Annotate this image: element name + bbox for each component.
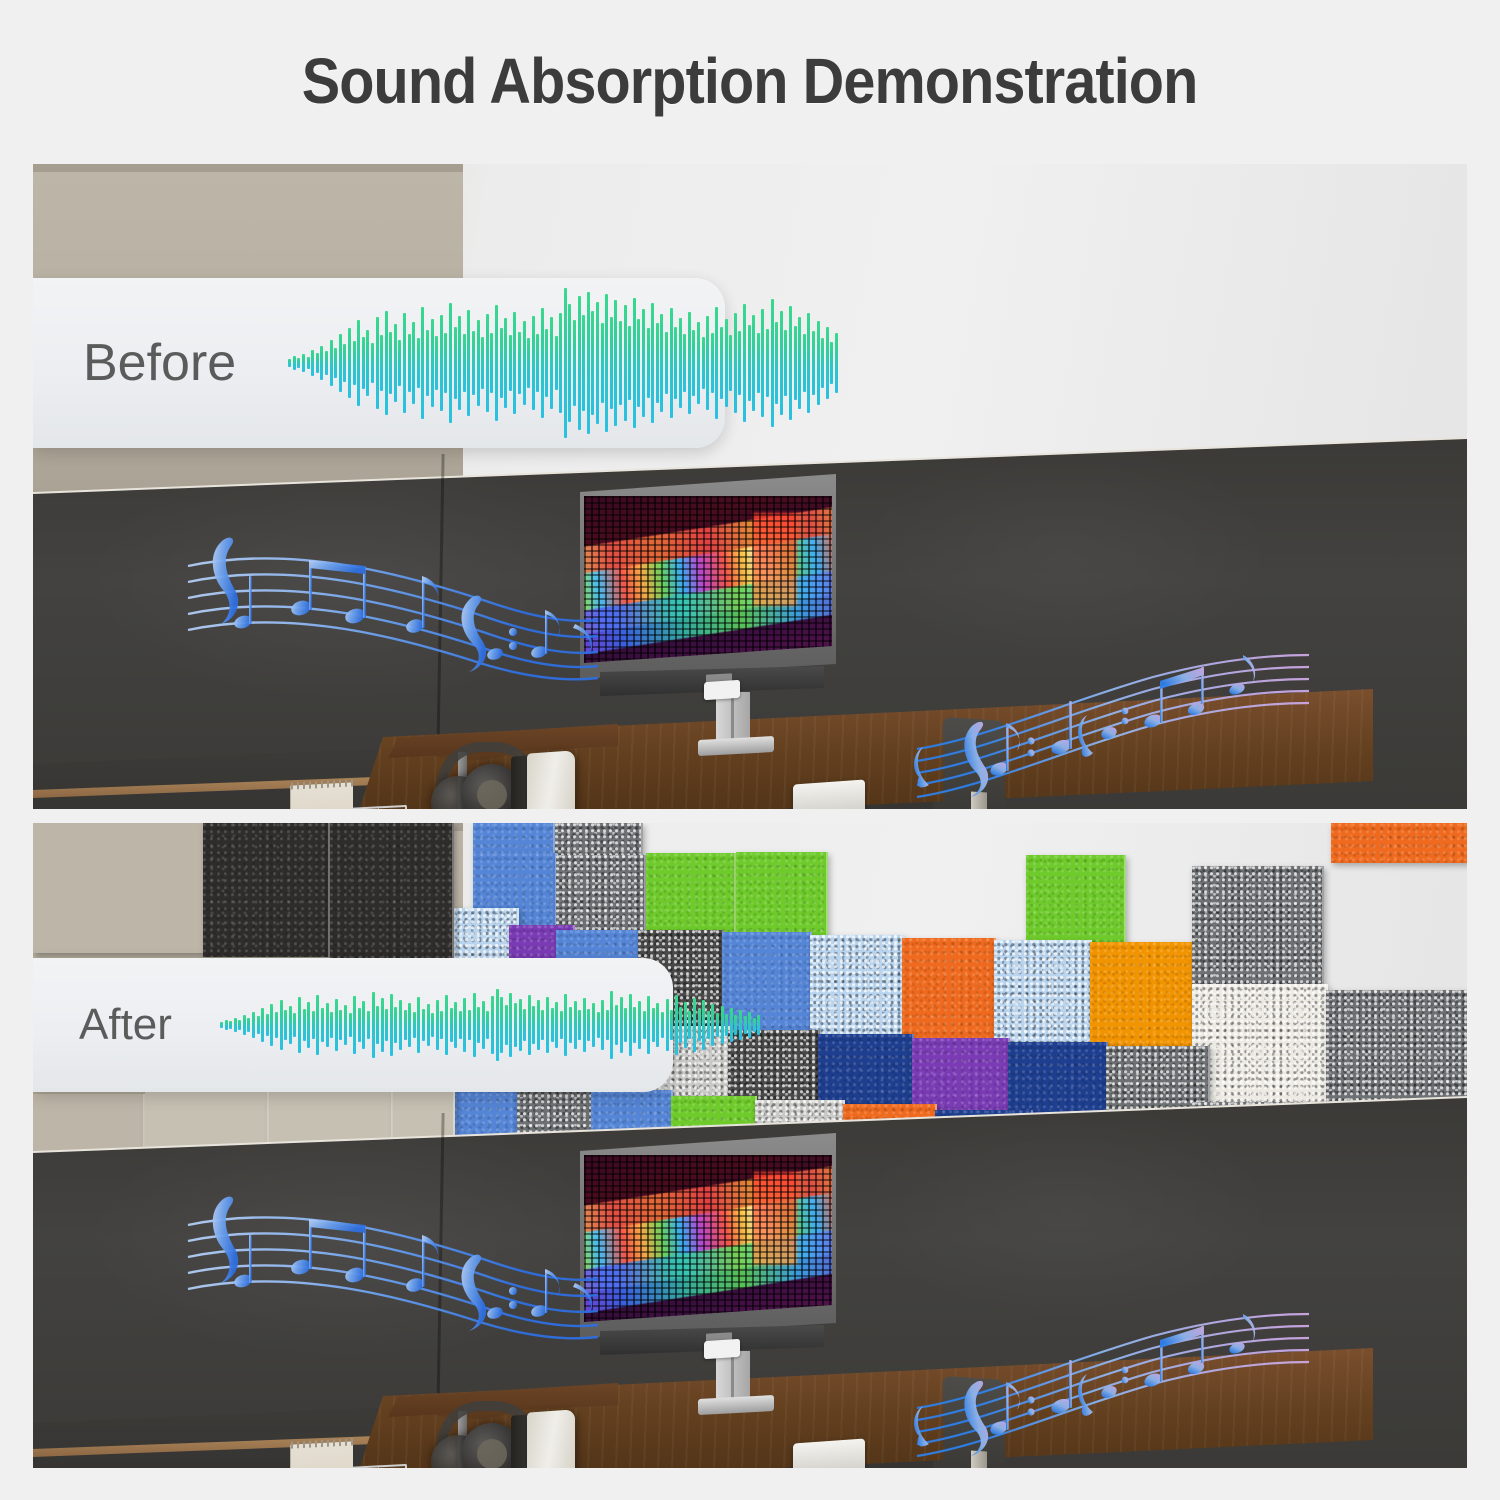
waveform-bar	[325, 351, 328, 375]
waveform-bar	[330, 1012, 333, 1038]
waveform-bar	[399, 1000, 402, 1050]
waveform-bar	[513, 312, 516, 414]
waveform-bar	[440, 315, 443, 411]
waveform-bar	[587, 292, 590, 434]
waveform-bar	[403, 313, 406, 413]
waveform-bar	[280, 1000, 283, 1050]
waveform-bar	[431, 319, 434, 407]
waveform-bar	[826, 327, 829, 399]
waveform-bar	[303, 1009, 306, 1041]
panel-texture	[1331, 823, 1467, 863]
waveform-bar	[257, 1016, 260, 1034]
waveform-bar	[536, 334, 539, 392]
waveform-bar	[366, 330, 369, 396]
waveform-bar	[761, 309, 764, 417]
waveform-bar	[775, 322, 778, 404]
monitor-power-button	[704, 680, 740, 701]
waveform-bar	[702, 1000, 705, 1050]
waveform-bar	[528, 995, 531, 1055]
waveform-bar	[376, 317, 379, 409]
waveform-bar	[445, 995, 448, 1055]
after-room-scene	[33, 823, 1467, 1468]
waveform-bar	[610, 991, 613, 1059]
waveform-bar	[679, 318, 682, 408]
waveform-bar	[633, 298, 636, 428]
waveform-bar	[238, 1020, 241, 1030]
waveform-bar	[519, 999, 522, 1051]
desk-accessory-box	[793, 1438, 865, 1468]
waveform-bar	[376, 1006, 379, 1044]
waveform-bar	[293, 356, 296, 370]
waveform-bar	[550, 317, 553, 409]
waveform-bar	[394, 324, 397, 402]
panel-texture	[902, 938, 994, 1040]
waveform-bar	[789, 306, 792, 420]
waveform-bar	[766, 329, 769, 397]
waveform-bar	[380, 335, 383, 391]
waveform-bar	[729, 335, 732, 391]
waveform-bar	[624, 1008, 627, 1042]
wall-trim	[33, 164, 463, 172]
waveform-bar	[422, 1009, 425, 1041]
desktop-speaker	[527, 1409, 575, 1468]
waveform-bar	[270, 1004, 273, 1046]
waveform-bar	[320, 346, 323, 380]
waveform-bar	[601, 323, 604, 403]
waveform-bar	[353, 341, 356, 385]
waveform-bar	[532, 316, 535, 410]
waveform-bar	[643, 1011, 646, 1039]
monitor-neck	[716, 1351, 750, 1403]
waveform-bar	[252, 1012, 255, 1038]
monitor-neck	[716, 692, 750, 744]
desktop-speaker	[527, 750, 575, 809]
waveform-bar	[629, 994, 632, 1056]
page-root: Sound Absorption Demonstration	[0, 0, 1500, 1500]
waveform-bar	[697, 322, 700, 404]
panel-texture	[994, 940, 1090, 1044]
waveform-bar	[597, 1012, 600, 1038]
waveform-bar	[660, 314, 663, 412]
waveform-bar	[573, 320, 576, 406]
waveform-bar	[417, 997, 420, 1053]
waveform-bar	[748, 325, 751, 401]
panel-texture	[1326, 990, 1467, 1108]
panel-texture	[1192, 984, 1326, 1102]
waveform-bar	[546, 997, 549, 1053]
waveform-bar	[684, 1002, 687, 1048]
waveform-bar	[307, 357, 310, 369]
waveform-bar	[518, 332, 521, 394]
waveform-bar	[725, 1014, 728, 1036]
waveform-bar	[500, 328, 503, 398]
waveform-bar	[284, 1010, 287, 1040]
waveform-bar	[679, 1007, 682, 1043]
waveform-bar	[812, 331, 815, 395]
waveform-bar	[440, 1011, 443, 1039]
waveform-bar	[298, 997, 301, 1053]
waveform-bar	[486, 314, 489, 412]
waveform-bar	[753, 1018, 756, 1032]
waveform-bar	[481, 337, 484, 389]
waveform-bar	[449, 303, 452, 423]
waveform-bar	[693, 998, 696, 1052]
after-label-card: After	[33, 958, 673, 1092]
waveform-bar	[312, 1011, 315, 1039]
waveform-bar	[505, 1005, 508, 1045]
waveform-bar	[468, 1010, 471, 1040]
waveform-bar	[757, 1015, 760, 1035]
waveform-bar	[555, 336, 558, 390]
waveform-bar	[798, 317, 801, 409]
waveform-bar	[417, 338, 420, 388]
waveform-bar	[330, 340, 333, 386]
waveform-bar	[606, 1010, 609, 1040]
chair-leg	[971, 791, 987, 809]
waveform-bar	[362, 337, 365, 389]
waveform-bar	[344, 1005, 347, 1045]
waveform-bar	[670, 308, 673, 418]
waveform-bar	[583, 998, 586, 1052]
waveform-bar	[247, 1018, 250, 1032]
waveform-bar	[739, 1010, 742, 1040]
waveform-bar	[491, 996, 494, 1054]
waveform-bar	[467, 310, 470, 416]
waveform-bar	[523, 321, 526, 405]
waveform-bar	[637, 319, 640, 407]
waveform-bar	[821, 338, 824, 388]
waveform-bar	[412, 322, 415, 404]
waveform-bar	[390, 994, 393, 1056]
acoustic-panel	[473, 823, 555, 855]
waveform-bar	[389, 332, 392, 394]
waveform-bar	[339, 1010, 342, 1040]
waveform-bar	[509, 993, 512, 1057]
waveform-bar	[316, 353, 319, 373]
waveform-bar	[504, 318, 507, 408]
waveform-bar	[541, 308, 544, 418]
waveform-bar	[316, 995, 319, 1055]
acoustic-panel	[1192, 866, 1324, 984]
waveform-bar	[702, 337, 705, 389]
waveform-bar	[720, 327, 723, 399]
waveform-bar	[477, 320, 480, 406]
acoustic-panel	[33, 823, 205, 953]
panel-texture	[203, 823, 328, 957]
headphone-pad	[477, 780, 507, 809]
waveform-bar	[794, 326, 797, 400]
waveform-bar	[477, 1007, 480, 1043]
panel-texture	[473, 823, 553, 855]
waveform-bar	[472, 331, 475, 395]
waveform-bar	[357, 320, 360, 406]
waveform-bar	[591, 311, 594, 415]
waveform-bar	[454, 1002, 457, 1048]
acoustic-panel	[330, 823, 454, 959]
waveform-bar	[807, 313, 810, 413]
waveform-bar	[220, 1022, 223, 1028]
waveform-bar	[293, 1013, 296, 1037]
waveform-bar	[803, 334, 806, 392]
waveform-bar	[661, 1012, 664, 1038]
waveform-bar	[721, 1006, 724, 1044]
waveform-bar	[523, 1009, 526, 1041]
waveform-bar	[633, 1007, 636, 1043]
notepad	[290, 1441, 353, 1468]
waveform-bar	[780, 311, 783, 415]
waveform-bar	[288, 359, 291, 367]
waveform-bar	[748, 1012, 751, 1038]
waveform-bar	[234, 1018, 237, 1032]
waveform-bar	[817, 321, 820, 405]
before-waveform	[288, 278, 839, 448]
waveform-bar	[349, 1013, 352, 1037]
waveform-bar	[343, 344, 346, 382]
after-photo: After	[33, 823, 1467, 1468]
monitor-screen	[584, 1155, 832, 1322]
after-waveform	[220, 958, 762, 1092]
waveform-bar	[665, 332, 668, 394]
waveform-bar	[675, 995, 678, 1055]
waveform-bar	[734, 1015, 737, 1035]
before-photo: Before	[33, 164, 1467, 809]
waveform-bar	[307, 1002, 310, 1048]
waveform-bar	[592, 1003, 595, 1047]
waveform-bar	[358, 1008, 361, 1042]
panel-texture	[555, 823, 641, 859]
waveform-bar	[688, 312, 691, 414]
waveform-bar	[229, 1021, 232, 1029]
waveform-bar	[738, 331, 741, 395]
waveform-bar	[362, 1001, 365, 1049]
panel-texture	[1090, 942, 1192, 1048]
waveform-bar	[431, 1013, 434, 1037]
waveform-bar	[463, 334, 466, 392]
waveform-bar	[688, 1011, 691, 1039]
waveform-bar	[578, 296, 581, 430]
waveform-bar	[647, 996, 650, 1054]
waveform-bar	[564, 994, 567, 1056]
monitor-power-button	[704, 1339, 740, 1360]
waveform-bar	[707, 1011, 710, 1039]
waveform-bar	[495, 305, 498, 421]
waveform-bar	[683, 334, 686, 392]
waveform-bar	[743, 304, 746, 422]
before-label: Before	[83, 333, 236, 393]
waveform-bar	[706, 316, 709, 410]
waveform-bar	[367, 1011, 370, 1039]
waveform-bar	[692, 330, 695, 396]
acoustic-panel	[1090, 942, 1194, 1048]
waveform-bar	[711, 333, 714, 393]
waveform-bar	[458, 316, 461, 410]
waveform-bar	[261, 1008, 264, 1042]
waveform-bar	[444, 333, 447, 393]
acoustic-panel	[1192, 984, 1328, 1102]
waveform-bar	[482, 1001, 485, 1049]
waveform-bar	[551, 1008, 554, 1042]
waveform-bar	[486, 1011, 489, 1039]
waveform-bar	[835, 333, 838, 393]
waveform-bar	[614, 300, 617, 426]
waveform-bar	[408, 1003, 411, 1047]
waveform-bar	[225, 1020, 228, 1030]
waveform-bar	[435, 336, 438, 390]
waveform-bar	[734, 313, 737, 413]
waveform-bar	[311, 350, 314, 376]
waveform-bar	[527, 338, 530, 388]
waveform-bar	[568, 304, 571, 422]
page-title: Sound Absorption Demonstration	[302, 44, 1198, 118]
before-label-card: Before	[33, 278, 725, 448]
waveform-bar	[394, 1007, 397, 1043]
waveform-bar	[784, 330, 787, 396]
acoustic-panel	[1326, 990, 1467, 1108]
waveform-bar	[628, 326, 631, 400]
waveform-bar	[385, 311, 388, 415]
waveform-bar	[463, 998, 466, 1052]
acoustic-panel	[810, 935, 904, 1037]
waveform-bar	[569, 1007, 572, 1043]
waveform-bar	[574, 1001, 577, 1049]
waveform-bar	[398, 340, 401, 386]
after-label: After	[79, 1000, 172, 1050]
waveform-bar	[490, 333, 493, 393]
acoustic-panel	[994, 940, 1092, 1044]
waveform-bar	[321, 1008, 324, 1042]
waveform-bar	[757, 333, 760, 393]
panel-texture	[330, 823, 452, 959]
waveform-bar	[339, 334, 342, 392]
waveform-bar	[642, 309, 645, 417]
waveform-bar	[404, 1010, 407, 1040]
waveform-bar	[564, 288, 567, 438]
waveform-bar	[670, 1010, 673, 1040]
panel-texture	[810, 935, 902, 1037]
monitor-assembly	[578, 1133, 838, 1373]
waveform-bar	[500, 997, 503, 1053]
waveform-bar	[426, 330, 429, 396]
waveform-bar	[624, 305, 627, 421]
desk-accessory-box	[793, 779, 865, 809]
waveform-bar	[830, 342, 833, 384]
acoustic-panel	[902, 938, 996, 1040]
panel-texture	[1192, 866, 1322, 984]
monitor-screen	[584, 496, 832, 663]
waveform-bar	[496, 989, 499, 1061]
acoustic-panel	[203, 823, 330, 957]
waveform-bar	[541, 1010, 544, 1040]
waveform-bar	[297, 358, 300, 368]
waveform-bar	[619, 321, 622, 405]
waveform-bar	[450, 1008, 453, 1042]
before-room-scene	[33, 164, 1467, 809]
waveform-bar	[652, 1008, 655, 1042]
waveform-bar	[615, 1005, 618, 1045]
waveform-bar	[537, 1000, 540, 1050]
waveform-bar	[730, 1008, 733, 1042]
waveform-bar	[413, 1012, 416, 1038]
waveform-bar	[408, 334, 411, 392]
waveform-bar	[473, 993, 476, 1057]
waveform-bar	[587, 1009, 590, 1041]
waveform-bar	[715, 307, 718, 419]
waveform-bar	[605, 294, 608, 432]
waveform-bar	[326, 1003, 329, 1047]
waveform-bar	[459, 1011, 462, 1039]
waveform-bar	[711, 1004, 714, 1046]
acoustic-panel	[1331, 823, 1467, 863]
monitor-assembly	[578, 474, 838, 714]
waveform-bar	[555, 1002, 558, 1048]
waveform-bar	[651, 303, 654, 423]
waveform-bar	[559, 313, 562, 413]
waveform-bar	[674, 327, 677, 399]
waveform-bar	[302, 354, 305, 372]
chair-leg	[971, 1450, 987, 1468]
waveform-bar	[427, 1004, 430, 1046]
waveform-bar	[335, 999, 338, 1051]
waveform-bar	[289, 1006, 292, 1044]
waveform-bar	[716, 1013, 719, 1037]
notepad	[290, 782, 353, 809]
waveform-bar	[601, 1000, 604, 1050]
waveform-bar	[666, 999, 669, 1051]
waveform-bar	[560, 1011, 563, 1039]
waveform-bar	[596, 302, 599, 424]
waveform-bar	[509, 335, 512, 391]
waveform-bar	[514, 1003, 517, 1047]
waveform-bar	[656, 1003, 659, 1047]
waveform-bar	[578, 1010, 581, 1040]
waveform-bar	[353, 996, 356, 1054]
waveform-bar	[582, 315, 585, 411]
waveform-bar	[348, 328, 351, 398]
waveform-bar	[698, 1009, 701, 1041]
headphone-pad	[477, 1439, 507, 1468]
waveform-bar	[266, 1014, 269, 1036]
waveform-bar	[454, 327, 457, 399]
waveform-bar	[545, 329, 548, 397]
waveform-bar	[771, 299, 774, 427]
waveform-bar	[436, 1000, 439, 1050]
waveform-bar	[638, 1001, 641, 1049]
acoustic-panel	[555, 823, 643, 859]
waveform-bar	[744, 1016, 747, 1034]
waveform-bar	[243, 1015, 246, 1035]
waveform-bar	[372, 992, 375, 1058]
waveform-bar	[385, 1009, 388, 1041]
waveform-bar	[334, 348, 337, 378]
waveform-bar	[752, 315, 755, 411]
waveform-bar	[532, 1006, 535, 1044]
waveform-bar	[371, 343, 374, 383]
waveform-bar	[381, 998, 384, 1052]
waveform-bar	[647, 328, 650, 398]
waveform-bar	[421, 307, 424, 419]
waveform-bar	[610, 317, 613, 409]
waveform-bar	[275, 1012, 278, 1038]
waveform-bar	[656, 323, 659, 403]
waveform-bar	[620, 997, 623, 1053]
title-bar: Sound Absorption Demonstration	[0, 0, 1500, 162]
waveform-bar	[725, 319, 728, 407]
